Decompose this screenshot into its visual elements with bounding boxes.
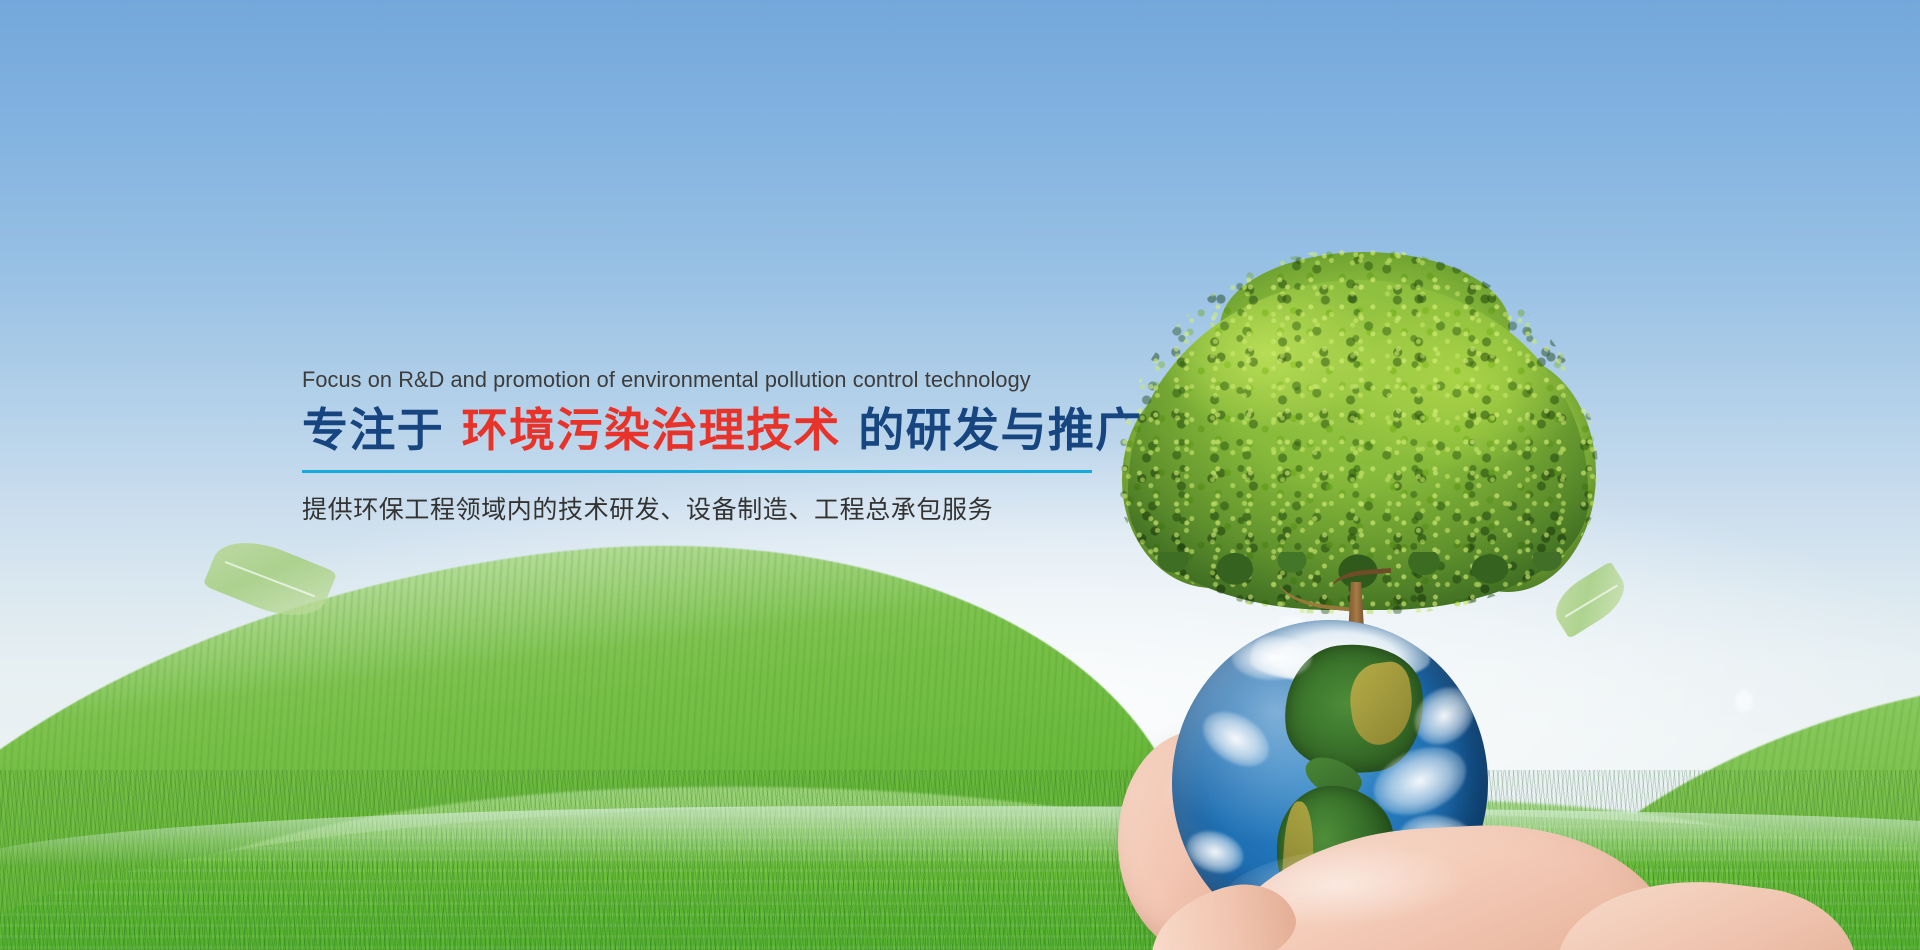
headline-divider-rule [302,470,1092,473]
headline-highlight: 环境污染治理技术 [462,403,841,457]
hero-banner: Focus on R&D and promotion of environmen… [0,0,1920,950]
banner-eyebrow-english: Focus on R&D and promotion of environmen… [302,366,1074,394]
banner-headline: 专注于 环境污染治理技术 的研发与推广 [302,405,1102,456]
headline-prefix: 专注于 [302,403,444,457]
bokeh-particle [1735,690,1753,712]
tree-illustration [1128,252,1588,672]
banner-subline: 提供环保工程领域内的技术研发、设备制造、工程总承包服务 [302,490,1102,526]
cloud-swirl [1232,636,1312,680]
banner-copy-block: Focus on R&D and promotion of environmen… [302,366,1102,526]
headline-suffix: 的研发与推广 [858,403,1142,457]
cloud-swirl [1193,700,1278,777]
leaf-vein [1564,585,1617,618]
leaf-vein [225,561,315,597]
